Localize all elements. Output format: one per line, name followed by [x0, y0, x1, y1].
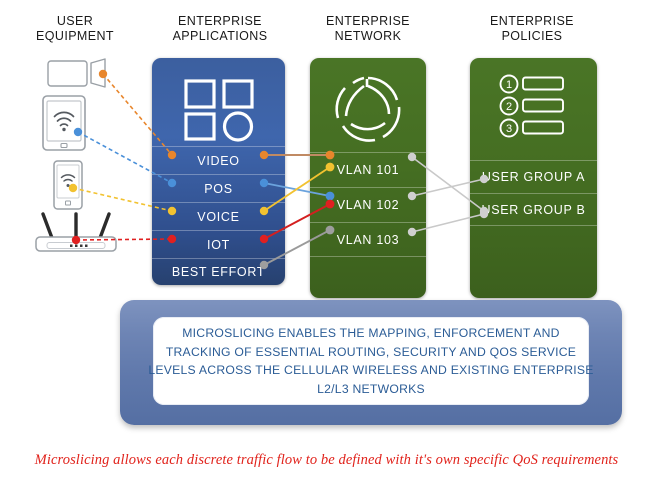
smartphone-wifi-icon	[53, 160, 83, 210]
enterprise-applications-panel: VIDEO POS VOICE IOT BEST EFFORT	[152, 58, 285, 285]
app-grid-icon	[183, 78, 255, 142]
smartphone-device[interactable]	[53, 160, 83, 210]
globe-network-icon	[333, 74, 403, 144]
caption-line-3: LEVELS ACROSS THE CELLULAR WIRELESS AND …	[148, 361, 593, 380]
application-row-video[interactable]: VIDEO	[152, 146, 285, 174]
application-row-label: VIDEO	[197, 154, 239, 168]
column-header-enterprise-applications: ENTERPRISE APPLICATIONS	[154, 14, 286, 44]
policy-row-user-group-a[interactable]: USER GROUP A	[470, 160, 597, 193]
router-device[interactable]	[30, 212, 122, 254]
caption-frame: MICROSLICING ENABLES THE MAPPING, ENFORC…	[120, 300, 622, 425]
globe-network-icon-wrap	[310, 70, 426, 148]
tablet-device[interactable]	[42, 95, 86, 151]
application-row-label: POS	[204, 182, 233, 196]
application-rows: VIDEO POS VOICE IOT BEST EFFORT	[152, 146, 285, 285]
caption-box: MICROSLICING ENABLES THE MAPPING, ENFORC…	[153, 317, 589, 405]
caption-line-4: L2/L3 NETWORKS	[317, 380, 425, 399]
policy-row-label: USER GROUP A	[482, 170, 585, 184]
application-row-label: IOT	[207, 238, 230, 252]
caption-line-2: TRACKING OF ESSENTIAL ROUTING, SECURITY …	[166, 343, 576, 362]
policy-row-label: USER GROUP B	[481, 203, 585, 217]
diagram-canvas: USER EQUIPMENT ENTERPRISE APPLICATIONS E…	[0, 0, 653, 496]
network-row-label: VLAN 102	[337, 198, 400, 212]
column-header-user-equipment: USER EQUIPMENT	[10, 14, 140, 44]
column-header-line2: EQUIPMENT	[10, 29, 140, 44]
network-row-label: VLAN 101	[337, 163, 400, 177]
application-row-label: BEST EFFORT	[172, 265, 265, 279]
application-row-pos[interactable]: POS	[152, 174, 285, 202]
network-row-vlan-101[interactable]: VLAN 101	[310, 152, 426, 187]
column-header-line1: USER	[57, 14, 93, 28]
application-row-best-effort[interactable]: BEST EFFORT	[152, 258, 285, 285]
policy-row-user-group-b[interactable]: USER GROUP B	[470, 193, 597, 226]
wifi-router-icon	[30, 212, 122, 254]
caption-line-1: MICROSLICING ENABLES THE MAPPING, ENFORC…	[182, 324, 560, 343]
tablet-wifi-icon	[42, 95, 86, 151]
numbered-list-icon: 1 2 3	[497, 73, 571, 139]
pos-terminal-icon	[47, 58, 109, 90]
network-row-label: VLAN 103	[337, 233, 400, 247]
app-grid-icon-wrap	[152, 74, 285, 146]
column-header-line1: ENTERPRISE	[326, 14, 410, 28]
footer-note: Microslicing allows each discrete traffi…	[0, 452, 653, 469]
application-row-label: VOICE	[197, 210, 239, 224]
svg-text:2: 2	[505, 101, 511, 113]
network-row-vlan-102[interactable]: VLAN 102	[310, 187, 426, 222]
enterprise-network-panel: VLAN 101 VLAN 102 VLAN 103	[310, 58, 426, 298]
column-header-enterprise-policies: ENTERPRISE POLICIES	[466, 14, 598, 44]
policy-rows: USER GROUP A USER GROUP B	[470, 160, 597, 226]
column-header-line1: ENTERPRISE	[490, 14, 574, 28]
network-rows: VLAN 101 VLAN 102 VLAN 103	[310, 152, 426, 257]
column-header-line2: NETWORK	[307, 29, 429, 44]
column-header-line1: ENTERPRISE	[178, 14, 262, 28]
enterprise-policies-panel: 1 2 3 USER GROUP A USER GROUP B	[470, 58, 597, 298]
pos-terminal-device[interactable]	[47, 58, 109, 90]
svg-text:1: 1	[505, 79, 511, 91]
column-header-line2: APPLICATIONS	[154, 29, 286, 44]
application-row-voice[interactable]: VOICE	[152, 202, 285, 230]
svg-text:3: 3	[505, 123, 511, 135]
numbered-list-icon-wrap: 1 2 3	[470, 68, 597, 144]
application-row-iot[interactable]: IOT	[152, 230, 285, 258]
column-header-enterprise-network: ENTERPRISE NETWORK	[307, 14, 429, 44]
network-row-vlan-103[interactable]: VLAN 103	[310, 222, 426, 257]
column-header-line2: POLICIES	[466, 29, 598, 44]
